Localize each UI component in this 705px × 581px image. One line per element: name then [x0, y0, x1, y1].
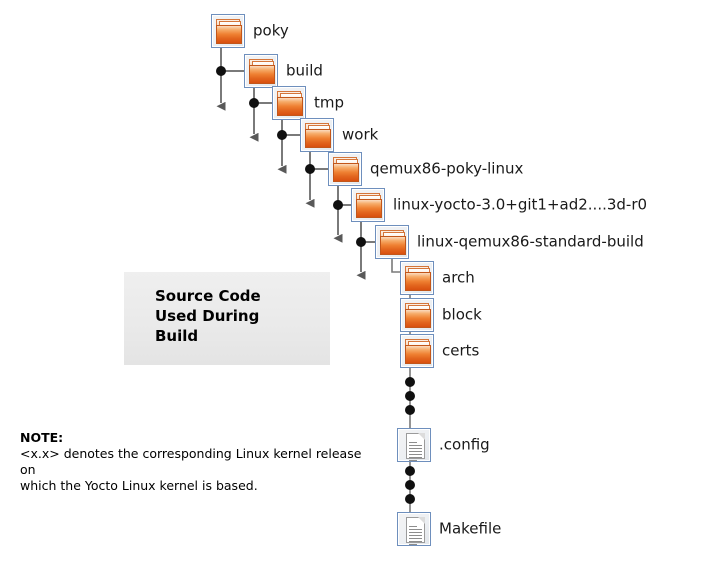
tree-node-label: block	[442, 308, 482, 323]
tree-node-linux-yocto[interactable]: linux-yocto-3.0+git1+ad2....3d-r0	[351, 188, 385, 222]
legend-text: Source Code Used During Build	[155, 286, 261, 346]
connector-certs-config	[405, 368, 415, 428]
tree-node-qemux86-poky-linux[interactable]: qemux86-poky-linux	[328, 152, 362, 186]
folder-icon	[400, 261, 434, 295]
tree-node-label: qemux86-poky-linux	[370, 162, 523, 177]
tree-node-label: .config	[439, 438, 490, 453]
connector-poky	[216, 48, 246, 103]
tree-node-build[interactable]: build	[244, 54, 278, 88]
tree-node-label: arch	[442, 271, 475, 286]
tree-node-makefile[interactable]: Makefile	[397, 512, 431, 546]
tree-node-label: linux-yocto-3.0+git1+ad2....3d-r0	[393, 198, 647, 213]
folder-icon	[300, 118, 334, 152]
tree-node-linux-qemux86-standard-build[interactable]: linux-qemux86-standard-build	[375, 225, 409, 259]
connector-linux-yocto	[356, 222, 377, 272]
tree-node-label: poky	[253, 24, 289, 39]
tree-node-poky[interactable]: poky	[211, 14, 245, 48]
note-body: <x.x> denotes the corresponding Linux ke…	[20, 446, 380, 494]
folder-icon	[375, 225, 409, 259]
document-icon	[397, 512, 431, 546]
connector-qemux86	[333, 186, 353, 235]
folder-icon	[351, 188, 385, 222]
connector-tmp	[277, 120, 302, 166]
tree-node-label: certs	[442, 344, 479, 359]
folder-icon	[328, 152, 362, 186]
note-title: NOTE:	[20, 430, 380, 446]
tree-node-label: Makefile	[439, 522, 501, 537]
tree-node-config[interactable]: .config	[397, 428, 431, 462]
document-icon	[397, 428, 431, 462]
connector-work	[305, 152, 330, 200]
tree-node-label: tmp	[314, 96, 344, 111]
tree-node-label: work	[342, 128, 378, 143]
tree-node-work[interactable]: work	[300, 118, 334, 152]
folder-icon	[244, 54, 278, 88]
note-block: NOTE: <x.x> denotes the corresponding Li…	[20, 430, 380, 494]
folder-icon	[400, 334, 434, 368]
folder-icon	[211, 14, 245, 48]
folder-icon	[400, 298, 434, 332]
folder-icon	[272, 86, 306, 120]
connector-config-makefile	[405, 462, 415, 512]
legend-box: Source Code Used During Build	[124, 272, 330, 365]
tree-node-tmp[interactable]: tmp	[272, 86, 306, 120]
tree-node-certs[interactable]: certs	[400, 334, 434, 368]
connector-build	[249, 88, 274, 134]
tree-node-label: build	[286, 64, 323, 79]
diagram-canvas: poky build tmp work qemux86-poky-linux l…	[0, 0, 705, 581]
tree-node-label: linux-qemux86-standard-build	[417, 235, 644, 250]
tree-node-block[interactable]: block	[400, 298, 434, 332]
tree-node-arch[interactable]: arch	[400, 261, 434, 295]
